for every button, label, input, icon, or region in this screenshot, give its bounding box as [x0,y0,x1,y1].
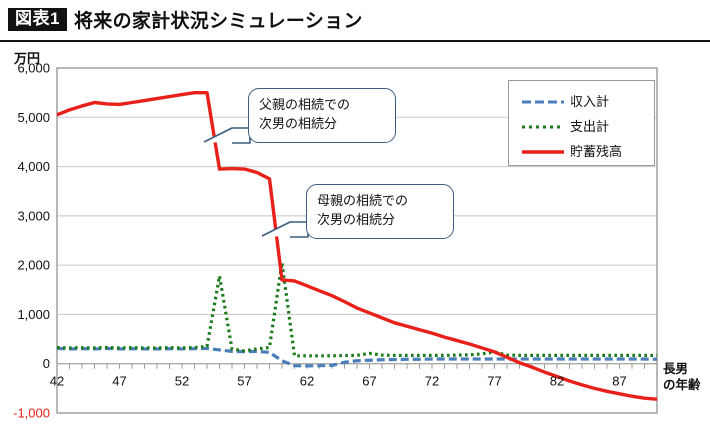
legend-key-savings-icon [521,145,565,157]
legend-item-expense: 支出計 [509,113,654,138]
x-tick-label: 87 [612,374,626,389]
callout-father-inheritance: 父親の相続での 次男の相続分 [248,88,396,143]
legend-item-savings: 貯蓄残高 [509,138,654,163]
x-tick-label: 42 [50,374,64,389]
x-axis-ticks [57,364,657,369]
y-tick-label: 5,000 [17,110,50,125]
x-tick-label: 52 [175,374,189,389]
x-tick-label: 72 [425,374,439,389]
legend-label-expense: 支出計 [570,116,609,135]
callout-father-line2: 次男の相続分 [259,115,385,134]
y-axis-tick-labels: 6,0005,0004,0003,0002,0001,0000-1,000 [13,61,50,421]
legend-key-expense-icon [521,120,565,132]
callout-mother-line2: 次男の相続分 [317,211,443,230]
y-tick-label: 1,000 [17,307,50,322]
y-tick-label: 0 [43,356,50,371]
callout-leader [262,222,308,237]
callout-mother-inheritance: 母親の相続での 次男の相続分 [306,184,454,239]
chart-legend: 収入計 支出計 貯蓄残高 [508,80,655,166]
y-tick-label: -1,000 [13,406,50,421]
legend-key-income-icon [521,95,565,107]
title-divider [0,40,710,42]
x-tick-label: 67 [362,374,376,389]
x-tick-label: 47 [112,374,126,389]
x-tick-label: 62 [300,374,314,389]
callout-leader [204,128,250,143]
x-tick-label: 82 [550,374,564,389]
page-title: 将来の家計状況シミュレーション [74,6,363,33]
callout-leader-lines [204,128,308,237]
legend-label-savings: 貯蓄残高 [570,141,622,160]
y-tick-label: 6,000 [17,61,50,76]
y-tick-label: 4,000 [17,159,50,174]
x-tick-label: 57 [237,374,251,389]
legend-label-income: 収入計 [570,91,609,110]
x-tick-label: 77 [487,374,501,389]
callout-father-line1: 父親の相続での [259,96,385,115]
figure-badge: 図表1 [8,8,67,31]
x-axis-tick-labels: 42475257626772778287 [50,374,627,389]
y-tick-label: 3,000 [17,208,50,223]
legend-item-income: 収入計 [509,88,654,113]
callout-mother-line1: 母親の相続での [317,192,443,211]
figure-title: 図表1 将来の家計状況シミュレーション [8,6,363,33]
y-tick-label: 2,000 [17,258,50,273]
